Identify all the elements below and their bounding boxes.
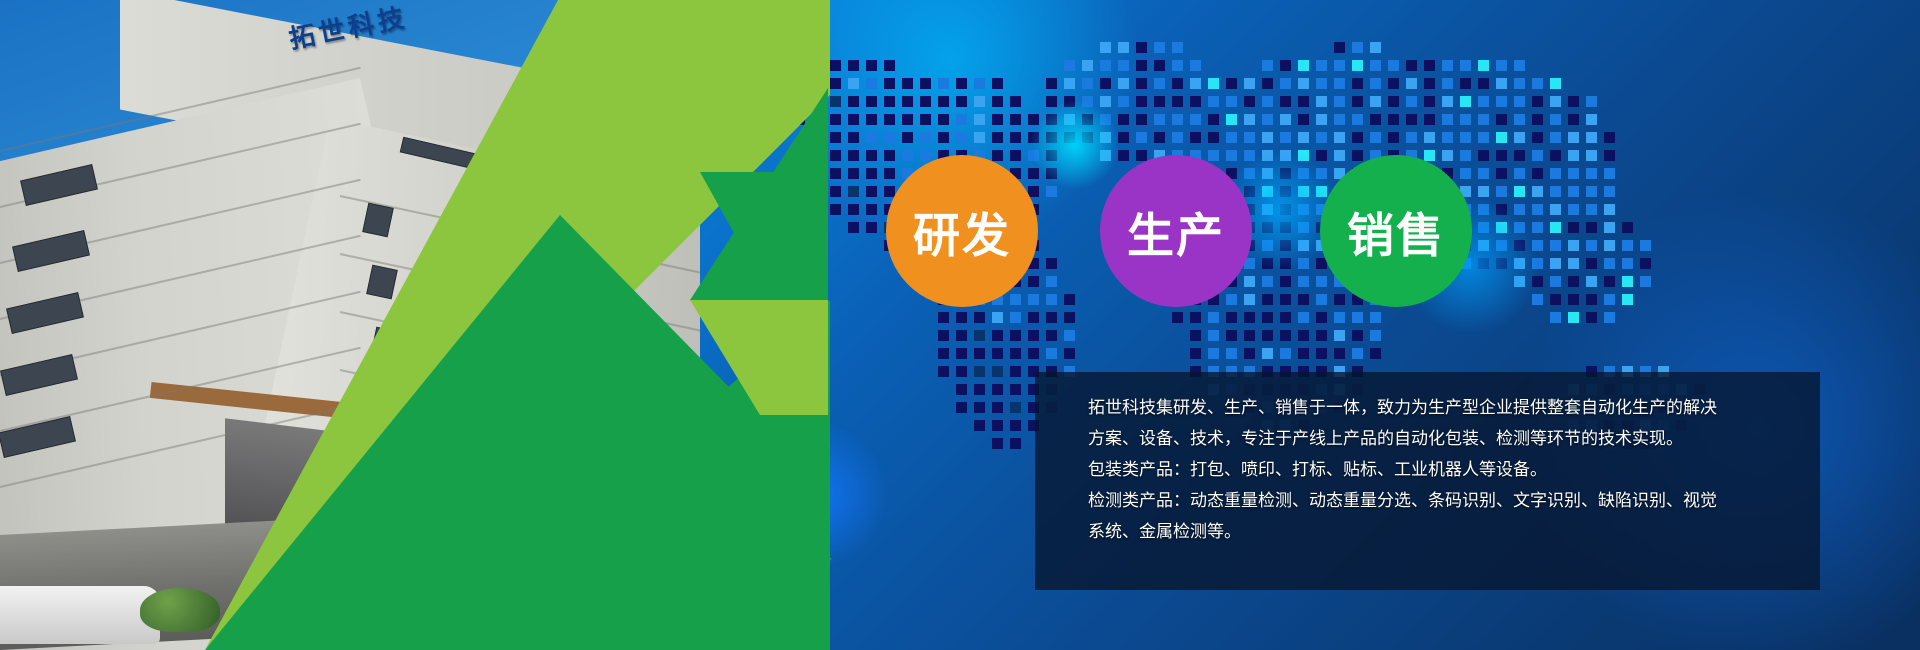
map-dot bbox=[1298, 114, 1309, 125]
map-dot bbox=[1010, 96, 1021, 107]
map-dot bbox=[1262, 312, 1273, 323]
map-dot bbox=[1568, 240, 1579, 251]
map-dot bbox=[1586, 204, 1597, 215]
map-dot bbox=[1352, 42, 1363, 53]
map-dot bbox=[1478, 150, 1489, 161]
map-dot bbox=[1550, 132, 1561, 143]
map-dot bbox=[1154, 60, 1165, 71]
map-dot bbox=[1010, 114, 1021, 125]
map-dot bbox=[1316, 132, 1327, 143]
map-dot bbox=[1172, 96, 1183, 107]
map-dot bbox=[1280, 276, 1291, 287]
map-dot bbox=[1568, 312, 1579, 323]
map-dot bbox=[1622, 222, 1633, 233]
map-dot bbox=[1424, 132, 1435, 143]
map-dot bbox=[1298, 96, 1309, 107]
map-dot bbox=[1172, 60, 1183, 71]
pillar-circle-sales-label: 销售 bbox=[1347, 197, 1445, 266]
map-dot bbox=[1586, 222, 1597, 233]
map-dot bbox=[1010, 150, 1021, 161]
map-dot bbox=[1046, 186, 1057, 197]
map-dot bbox=[1316, 60, 1327, 71]
map-dot bbox=[1532, 222, 1543, 233]
map-dot bbox=[1568, 168, 1579, 179]
map-dot bbox=[1226, 294, 1237, 305]
map-dot bbox=[1604, 186, 1615, 197]
pillar-circle-production-label: 生产 bbox=[1127, 197, 1225, 266]
map-dot bbox=[1442, 60, 1453, 71]
map-dot bbox=[1568, 204, 1579, 215]
map-dot bbox=[1334, 78, 1345, 89]
map-dot bbox=[1424, 78, 1435, 89]
map-dot bbox=[1514, 150, 1525, 161]
map-dot bbox=[1550, 294, 1561, 305]
map-dot bbox=[1100, 96, 1111, 107]
map-dot bbox=[1190, 132, 1201, 143]
map-dot bbox=[1028, 186, 1039, 197]
map-dot bbox=[1010, 420, 1021, 431]
map-dot bbox=[1064, 348, 1075, 359]
map-dot bbox=[1226, 330, 1237, 341]
map-dot bbox=[1316, 348, 1327, 359]
map-dot bbox=[1172, 114, 1183, 125]
map-dot bbox=[1208, 348, 1219, 359]
map-dot bbox=[1154, 132, 1165, 143]
map-dot bbox=[1226, 348, 1237, 359]
map-dot bbox=[1514, 132, 1525, 143]
map-dot bbox=[1496, 114, 1507, 125]
map-dot bbox=[1280, 132, 1291, 143]
map-dot bbox=[1586, 132, 1597, 143]
map-dot bbox=[1244, 114, 1255, 125]
map-dot bbox=[1010, 132, 1021, 143]
map-dot bbox=[1262, 330, 1273, 341]
map-dot bbox=[1568, 294, 1579, 305]
map-dot bbox=[1568, 258, 1579, 269]
map-dot bbox=[1100, 78, 1111, 89]
map-dot bbox=[1226, 312, 1237, 323]
map-dot bbox=[1550, 240, 1561, 251]
map-dot bbox=[1586, 258, 1597, 269]
map-dot bbox=[1460, 114, 1471, 125]
map-dot bbox=[1478, 60, 1489, 71]
map-dot bbox=[1010, 312, 1021, 323]
map-dot bbox=[1514, 60, 1525, 71]
map-dot bbox=[1118, 150, 1129, 161]
map-dot bbox=[1442, 96, 1453, 107]
map-dot bbox=[1586, 276, 1597, 287]
map-dot bbox=[1496, 96, 1507, 107]
map-dot bbox=[1154, 42, 1165, 53]
map-dot bbox=[1622, 240, 1633, 251]
map-dot bbox=[1514, 114, 1525, 125]
map-dot bbox=[1550, 114, 1561, 125]
map-dot bbox=[1478, 114, 1489, 125]
map-dot bbox=[1298, 312, 1309, 323]
map-dot bbox=[1046, 330, 1057, 341]
map-dot bbox=[1334, 96, 1345, 107]
map-dot bbox=[1568, 276, 1579, 287]
map-dot bbox=[1316, 330, 1327, 341]
map-dot bbox=[1424, 96, 1435, 107]
map-dot bbox=[1496, 132, 1507, 143]
map-dot bbox=[1172, 132, 1183, 143]
map-dot bbox=[1604, 258, 1615, 269]
map-dot bbox=[1568, 114, 1579, 125]
map-dot bbox=[1316, 276, 1327, 287]
map-dot bbox=[1478, 78, 1489, 89]
map-dot bbox=[1514, 186, 1525, 197]
map-dot bbox=[1172, 312, 1183, 323]
description-line-1: 拓世科技集研发、生产、销售于一体，致力为生产型企业提供整套自动化生产的解决 bbox=[1088, 393, 1818, 424]
green-chevron-graphics bbox=[0, 0, 1000, 650]
map-dot bbox=[1622, 258, 1633, 269]
map-dot bbox=[1604, 240, 1615, 251]
map-dot bbox=[1442, 132, 1453, 143]
map-dot bbox=[1064, 294, 1075, 305]
map-dot bbox=[1190, 330, 1201, 341]
map-dot bbox=[1298, 132, 1309, 143]
map-dot bbox=[1640, 258, 1651, 269]
map-dot bbox=[1568, 222, 1579, 233]
map-dot bbox=[1262, 114, 1273, 125]
map-dot bbox=[1046, 294, 1057, 305]
map-dot bbox=[1352, 150, 1363, 161]
description-line-5: 系统、金属检测等。 bbox=[1088, 517, 1818, 548]
map-dot bbox=[1136, 150, 1147, 161]
description-line-3: 包装类产品：打包、喷印、打标、贴标、工业机器人等设备。 bbox=[1088, 455, 1818, 486]
map-dot bbox=[1388, 114, 1399, 125]
map-dot bbox=[1640, 276, 1651, 287]
map-dot bbox=[1334, 132, 1345, 143]
map-dot bbox=[1064, 312, 1075, 323]
map-dot bbox=[1460, 60, 1471, 71]
map-dot bbox=[1604, 150, 1615, 161]
map-dot bbox=[1244, 78, 1255, 89]
description-line-2: 方案、设备、技术，专注于产线上产品的自动化包装、检测等环节的技术实现。 bbox=[1088, 424, 1818, 455]
map-dot bbox=[1136, 42, 1147, 53]
map-dot bbox=[1532, 96, 1543, 107]
map-dot bbox=[1316, 78, 1327, 89]
map-dot bbox=[1550, 186, 1561, 197]
map-dot bbox=[1406, 96, 1417, 107]
map-dot bbox=[1136, 78, 1147, 89]
map-dot bbox=[1046, 276, 1057, 287]
map-dot bbox=[1028, 330, 1039, 341]
map-dot bbox=[1136, 60, 1147, 71]
map-dot bbox=[1442, 150, 1453, 161]
map-dot bbox=[1262, 96, 1273, 107]
map-dot bbox=[1208, 78, 1219, 89]
map-dot bbox=[1460, 96, 1471, 107]
map-dot bbox=[1442, 78, 1453, 89]
map-dot bbox=[1154, 96, 1165, 107]
map-dot bbox=[1190, 96, 1201, 107]
map-dot bbox=[1334, 42, 1345, 53]
map-dot bbox=[1586, 114, 1597, 125]
map-dot bbox=[1604, 222, 1615, 233]
map-dot bbox=[1388, 96, 1399, 107]
map-dot bbox=[1190, 78, 1201, 89]
map-dot bbox=[1118, 60, 1129, 71]
map-dot bbox=[1532, 294, 1543, 305]
map-dot bbox=[1280, 330, 1291, 341]
map-dot bbox=[1262, 294, 1273, 305]
map-dot bbox=[1226, 78, 1237, 89]
description-line-4: 检测类产品：动态重量检测、动态重量分选、条码识别、文字识别、缺陷识别、视觉 bbox=[1088, 486, 1818, 517]
map-dot bbox=[1028, 312, 1039, 323]
map-dot bbox=[1172, 78, 1183, 89]
map-dot bbox=[1226, 96, 1237, 107]
pillar-circle-rd[interactable]: 研发 bbox=[886, 155, 1038, 307]
map-dot bbox=[1550, 312, 1561, 323]
map-dot bbox=[1568, 150, 1579, 161]
map-dot bbox=[1298, 60, 1309, 71]
map-dot bbox=[1316, 294, 1327, 305]
map-dot bbox=[1370, 312, 1381, 323]
map-dot bbox=[1550, 276, 1561, 287]
map-dot bbox=[1586, 168, 1597, 179]
map-dot bbox=[1208, 114, 1219, 125]
map-dot bbox=[1370, 60, 1381, 71]
map-dot bbox=[1586, 186, 1597, 197]
map-dot bbox=[1370, 96, 1381, 107]
map-dot bbox=[1640, 240, 1651, 251]
map-dot bbox=[1568, 186, 1579, 197]
map-dot bbox=[1298, 276, 1309, 287]
map-dot bbox=[1208, 330, 1219, 341]
map-dot bbox=[1208, 150, 1219, 161]
map-dot bbox=[1118, 114, 1129, 125]
map-dot bbox=[1154, 78, 1165, 89]
map-dot bbox=[1208, 96, 1219, 107]
map-dot bbox=[1550, 150, 1561, 161]
map-dot bbox=[1496, 186, 1507, 197]
map-dot bbox=[1028, 294, 1039, 305]
map-dot bbox=[1208, 312, 1219, 323]
map-dot bbox=[1118, 78, 1129, 89]
map-dot bbox=[1226, 150, 1237, 161]
map-dot bbox=[1604, 276, 1615, 287]
map-dot bbox=[1532, 132, 1543, 143]
map-dot bbox=[1046, 78, 1057, 89]
map-dot bbox=[1334, 60, 1345, 71]
map-dot bbox=[1028, 276, 1039, 287]
map-dot bbox=[1514, 96, 1525, 107]
map-dot bbox=[1622, 294, 1633, 305]
map-dot bbox=[1406, 60, 1417, 71]
map-dot bbox=[1244, 276, 1255, 287]
map-dot bbox=[1532, 186, 1543, 197]
map-dot bbox=[1280, 348, 1291, 359]
map-dot bbox=[1316, 150, 1327, 161]
pillar-circle-rd-label: 研发 bbox=[913, 197, 1011, 266]
map-dot bbox=[1424, 114, 1435, 125]
map-dot bbox=[1244, 96, 1255, 107]
map-dot bbox=[1064, 330, 1075, 341]
map-dot bbox=[1604, 312, 1615, 323]
map-dot bbox=[1496, 150, 1507, 161]
map-dot bbox=[1370, 132, 1381, 143]
map-dot bbox=[1208, 132, 1219, 143]
map-dot bbox=[1514, 168, 1525, 179]
map-dot bbox=[1334, 294, 1345, 305]
map-dot bbox=[1064, 78, 1075, 89]
map-dot bbox=[1586, 240, 1597, 251]
map-dot bbox=[1586, 294, 1597, 305]
glow-accent-a bbox=[1030, 100, 1120, 190]
map-dot bbox=[1532, 78, 1543, 89]
map-dot bbox=[1478, 168, 1489, 179]
map-dot bbox=[1406, 78, 1417, 89]
map-dot bbox=[1226, 132, 1237, 143]
map-dot bbox=[1100, 42, 1111, 53]
map-dot bbox=[1532, 204, 1543, 215]
map-dot bbox=[1370, 78, 1381, 89]
map-dot bbox=[1280, 60, 1291, 71]
map-dot bbox=[1244, 312, 1255, 323]
map-dot bbox=[1010, 438, 1021, 449]
map-dot bbox=[1316, 114, 1327, 125]
map-dot bbox=[1064, 60, 1075, 71]
map-dot bbox=[1550, 96, 1561, 107]
map-dot bbox=[1298, 348, 1309, 359]
map-dot bbox=[1082, 78, 1093, 89]
map-dot bbox=[1136, 132, 1147, 143]
map-dot bbox=[1046, 348, 1057, 359]
map-dot bbox=[1262, 78, 1273, 89]
map-dot bbox=[1046, 258, 1057, 269]
map-dot bbox=[1424, 60, 1435, 71]
map-dot bbox=[1406, 114, 1417, 125]
map-dot bbox=[1388, 78, 1399, 89]
map-dot bbox=[1190, 60, 1201, 71]
map-dot bbox=[1604, 204, 1615, 215]
map-dot bbox=[1550, 258, 1561, 269]
map-dot bbox=[1478, 96, 1489, 107]
map-dot bbox=[1244, 348, 1255, 359]
map-dot bbox=[1118, 42, 1129, 53]
map-dot bbox=[1298, 294, 1309, 305]
map-dot bbox=[1028, 348, 1039, 359]
map-dot bbox=[1334, 330, 1345, 341]
map-dot bbox=[1460, 78, 1471, 89]
map-dot bbox=[1280, 294, 1291, 305]
map-dot bbox=[1136, 114, 1147, 125]
map-dot bbox=[1010, 384, 1021, 395]
map-dot bbox=[1532, 114, 1543, 125]
map-dot bbox=[1334, 348, 1345, 359]
map-dot bbox=[1406, 132, 1417, 143]
map-dot bbox=[1550, 168, 1561, 179]
map-dot bbox=[1352, 330, 1363, 341]
map-dot bbox=[1262, 60, 1273, 71]
map-dot bbox=[1460, 150, 1471, 161]
map-dot bbox=[1586, 312, 1597, 323]
map-dot bbox=[1460, 132, 1471, 143]
map-dot bbox=[1082, 60, 1093, 71]
map-dot bbox=[1046, 312, 1057, 323]
map-dot bbox=[1568, 132, 1579, 143]
map-dot bbox=[1334, 312, 1345, 323]
map-dot bbox=[1010, 366, 1021, 377]
map-dot bbox=[1496, 78, 1507, 89]
map-dot bbox=[1604, 132, 1615, 143]
map-dot bbox=[1334, 150, 1345, 161]
map-dot bbox=[1352, 348, 1363, 359]
map-dot bbox=[1316, 312, 1327, 323]
map-dot bbox=[1280, 114, 1291, 125]
map-dot bbox=[1460, 168, 1471, 179]
map-dot bbox=[1370, 348, 1381, 359]
map-dot bbox=[1280, 312, 1291, 323]
map-dot bbox=[1352, 312, 1363, 323]
green-chevron-svg bbox=[0, 0, 1000, 650]
map-dot bbox=[1622, 276, 1633, 287]
map-dot bbox=[1334, 114, 1345, 125]
map-dot bbox=[1100, 60, 1111, 71]
map-dot bbox=[1118, 96, 1129, 107]
map-dot bbox=[1154, 114, 1165, 125]
map-dot bbox=[1244, 330, 1255, 341]
map-dot bbox=[1586, 150, 1597, 161]
map-dot bbox=[1352, 60, 1363, 71]
map-dot bbox=[1010, 402, 1021, 413]
map-dot bbox=[1010, 330, 1021, 341]
map-dot bbox=[1604, 294, 1615, 305]
map-dot bbox=[1478, 132, 1489, 143]
map-dot bbox=[1586, 96, 1597, 107]
map-dot bbox=[1010, 294, 1021, 305]
map-dot bbox=[1190, 348, 1201, 359]
map-dot bbox=[1190, 312, 1201, 323]
pillar-circle-sales[interactable]: 销售 bbox=[1320, 155, 1472, 307]
map-dot bbox=[1550, 78, 1561, 89]
map-dot bbox=[1262, 348, 1273, 359]
map-dot bbox=[1010, 348, 1021, 359]
map-dot bbox=[1280, 96, 1291, 107]
map-dot bbox=[1244, 294, 1255, 305]
map-dot bbox=[1172, 42, 1183, 53]
map-dot bbox=[1298, 330, 1309, 341]
map-dot bbox=[1442, 114, 1453, 125]
map-dot bbox=[1568, 96, 1579, 107]
map-dot bbox=[1604, 168, 1615, 179]
map-dot bbox=[1226, 114, 1237, 125]
map-dot bbox=[1370, 330, 1381, 341]
map-dot bbox=[1298, 78, 1309, 89]
map-dot bbox=[1352, 78, 1363, 89]
map-dot bbox=[1514, 78, 1525, 89]
company-banner: 拓世科技 研发 生产 销售 拓世科技集研发、生产、销售于一体，致力为生产型企业提… bbox=[0, 0, 1920, 650]
map-dot bbox=[1136, 96, 1147, 107]
map-dot bbox=[1352, 132, 1363, 143]
map-dot bbox=[1262, 132, 1273, 143]
map-dot bbox=[1262, 276, 1273, 287]
description-text: 拓世科技集研发、生产、销售于一体，致力为生产型企业提供整套自动化生产的解决 方案… bbox=[1088, 393, 1818, 548]
map-dot bbox=[1496, 60, 1507, 71]
map-dot bbox=[1388, 132, 1399, 143]
map-dot bbox=[1370, 114, 1381, 125]
map-dot bbox=[1496, 168, 1507, 179]
pillar-circle-production[interactable]: 生产 bbox=[1100, 155, 1252, 307]
map-dot bbox=[1280, 78, 1291, 89]
map-dot bbox=[1370, 42, 1381, 53]
map-dot bbox=[1352, 114, 1363, 125]
map-dot bbox=[1532, 168, 1543, 179]
map-dot bbox=[1352, 96, 1363, 107]
map-dot bbox=[1424, 150, 1435, 161]
